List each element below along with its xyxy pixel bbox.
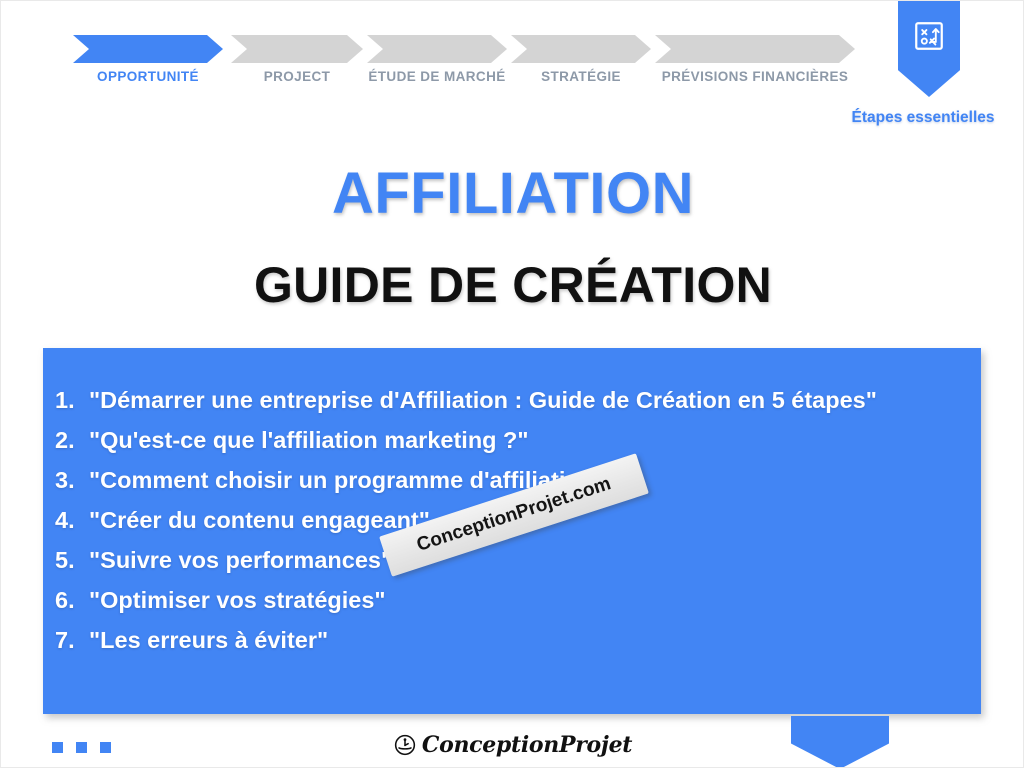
list-item-text: "Suivre vos performances" — [89, 547, 971, 574]
step-chevron-shape — [655, 35, 855, 63]
step-label: STRATÉGIE — [541, 69, 621, 84]
process-step-bar: OPPORTUNITÉ PROJECT ÉTUDE DE MARCHÉ STRA… — [1, 35, 1024, 95]
list-item: 2. "Qu'est-ce que l'affiliation marketin… — [55, 427, 971, 467]
list-item-text: "Les erreurs à éviter" — [89, 627, 971, 654]
slide-canvas: OPPORTUNITÉ PROJECT ÉTUDE DE MARCHÉ STRA… — [0, 0, 1024, 768]
page-subtitle: GUIDE DE CRÉATION — [1, 256, 1024, 314]
step-chevron-shape — [511, 35, 651, 63]
list-item-number: 4. — [55, 507, 89, 534]
essential-steps-caption: Étapes essentielles — [843, 109, 1003, 127]
step-label: PRÉVISIONS FINANCIÈRES — [662, 69, 849, 84]
page-title: AFFILIATION — [1, 160, 1024, 227]
footer-logo: ConceptionProjet — [1, 732, 1024, 758]
step-chevron-shape — [73, 35, 223, 63]
step-chevron-shape — [231, 35, 363, 63]
step-opportunite[interactable]: OPPORTUNITÉ — [73, 35, 223, 63]
list-item: 1. "Démarrer une entreprise d'Affiliatio… — [55, 387, 971, 427]
list-item: 5. "Suivre vos performances" — [55, 547, 971, 587]
step-project[interactable]: PROJECT — [231, 35, 363, 63]
step-label: PROJECT — [264, 69, 331, 84]
list-item-number: 1. — [55, 387, 89, 414]
step-chevron-shape — [367, 35, 507, 63]
list-item-number: 5. — [55, 547, 89, 574]
step-strategie[interactable]: STRATÉGIE — [511, 35, 651, 63]
list-item-text: "Optimiser vos stratégies" — [89, 587, 971, 614]
list-item-number: 6. — [55, 587, 89, 614]
list-item-text: "Qu'est-ce que l'affiliation marketing ?… — [89, 427, 971, 454]
step-label: ÉTUDE DE MARCHÉ — [368, 69, 505, 84]
step-previsions-financieres[interactable]: PRÉVISIONS FINANCIÈRES — [655, 35, 855, 63]
list-item: 7. "Les erreurs à éviter" — [55, 627, 971, 667]
step-etude-de-marche[interactable]: ÉTUDE DE MARCHÉ — [367, 35, 507, 63]
footer-brand-name: ConceptionProjet — [422, 732, 632, 758]
list-item-number: 2. — [55, 427, 89, 454]
list-item-number: 7. — [55, 627, 89, 654]
strategy-board-icon — [912, 19, 946, 53]
list-item-text: "Démarrer une entreprise d'Affiliation :… — [89, 387, 971, 414]
conception-projet-mark-icon — [394, 734, 416, 756]
list-item: 6. "Optimiser vos stratégies" — [55, 587, 971, 627]
step-label: OPPORTUNITÉ — [97, 69, 199, 84]
list-item-number: 3. — [55, 467, 89, 494]
